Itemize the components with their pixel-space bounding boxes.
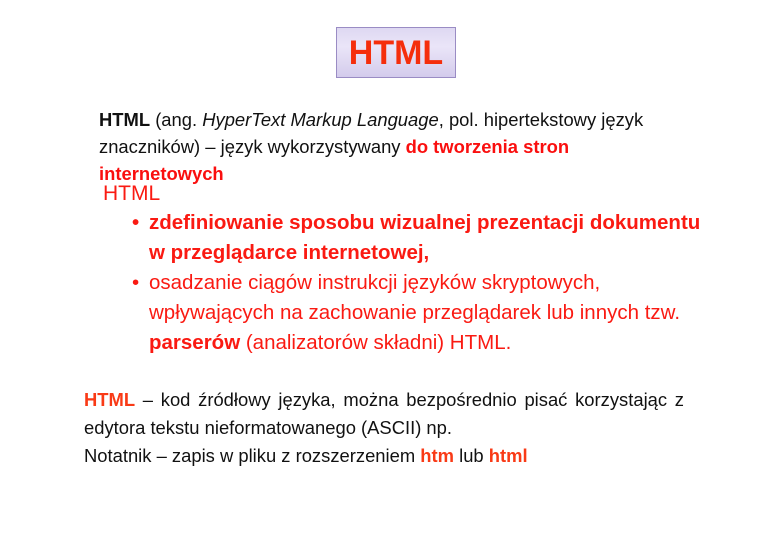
outro-extension-htm: htm [420, 445, 454, 466]
bullet-text-2-part1: osadzanie ciągów instrukcji języków skry… [149, 271, 680, 324]
feature-bullet-list: zdefiniowanie sposobu wizualnej prezenta… [103, 208, 703, 358]
list-item: zdefiniowanie sposobu wizualnej prezenta… [122, 208, 703, 268]
list-item: osadzanie ciągów instrukcji języków skry… [122, 268, 703, 358]
outro-term: HTML [84, 389, 135, 410]
outro-last-line: Notatnik – zapis w pliku z rozszerzeniem… [84, 442, 684, 470]
outro-paragraph: HTML – kod źródłowy języka, można bezpoś… [84, 386, 684, 470]
page-title: HTML [349, 36, 443, 70]
bullet-text-2-bold: parserów [149, 331, 240, 354]
intro-paragraph: HTML (ang. HyperText Markup Language, po… [99, 106, 659, 187]
red-content-block: HTML zdefiniowanie sposobu wizualnej pre… [103, 180, 703, 358]
intro-term: HTML [99, 109, 150, 130]
outro-extension-html: html [489, 445, 528, 466]
intro-expansion: HyperText Markup Language [202, 109, 439, 130]
red-block-heading: HTML [103, 180, 703, 208]
outro-body: – kod źródłowy języka, można bezpośredni… [84, 389, 684, 438]
intro-open-paren: (ang. [150, 109, 202, 130]
bullet-text-1: zdefiniowanie sposobu wizualnej prezenta… [149, 211, 700, 264]
outro-conjunction: lub [454, 445, 489, 466]
bullet-text-2-part2: (analizatorów składni) HTML. [240, 331, 511, 354]
title-box: HTML [336, 27, 456, 78]
slide-canvas: HTML HTML (ang. HyperText Markup Languag… [0, 0, 768, 543]
outro-last-line-pre: Notatnik – zapis w pliku z rozszerzeniem [84, 445, 420, 466]
